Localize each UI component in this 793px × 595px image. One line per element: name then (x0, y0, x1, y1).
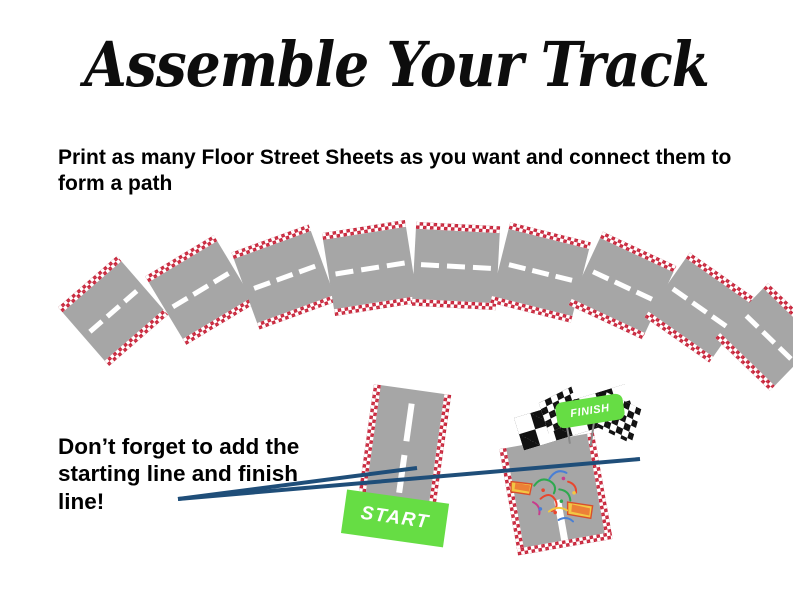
start-tile[interactable]: START (357, 384, 451, 518)
intro-paragraph: Print as many Floor Street Sheets as you… (58, 145, 758, 196)
start-banner-label: START (359, 503, 430, 534)
finish-tile[interactable] (499, 432, 612, 555)
page-title: Assemble Your Track (0, 28, 793, 101)
road-tile-4[interactable] (322, 220, 418, 316)
slide-canvas: Assemble Your Track Print as many Floor … (0, 0, 793, 595)
finish-banner-label: FINISH (569, 402, 610, 420)
lane-dash (473, 265, 491, 271)
lane-dash (421, 262, 439, 268)
road-tile-5[interactable] (412, 222, 500, 310)
road-tile-3[interactable] (231, 224, 336, 329)
lane-dash (447, 264, 465, 270)
note-paragraph: Don’t forget to add the starting line an… (58, 433, 308, 515)
